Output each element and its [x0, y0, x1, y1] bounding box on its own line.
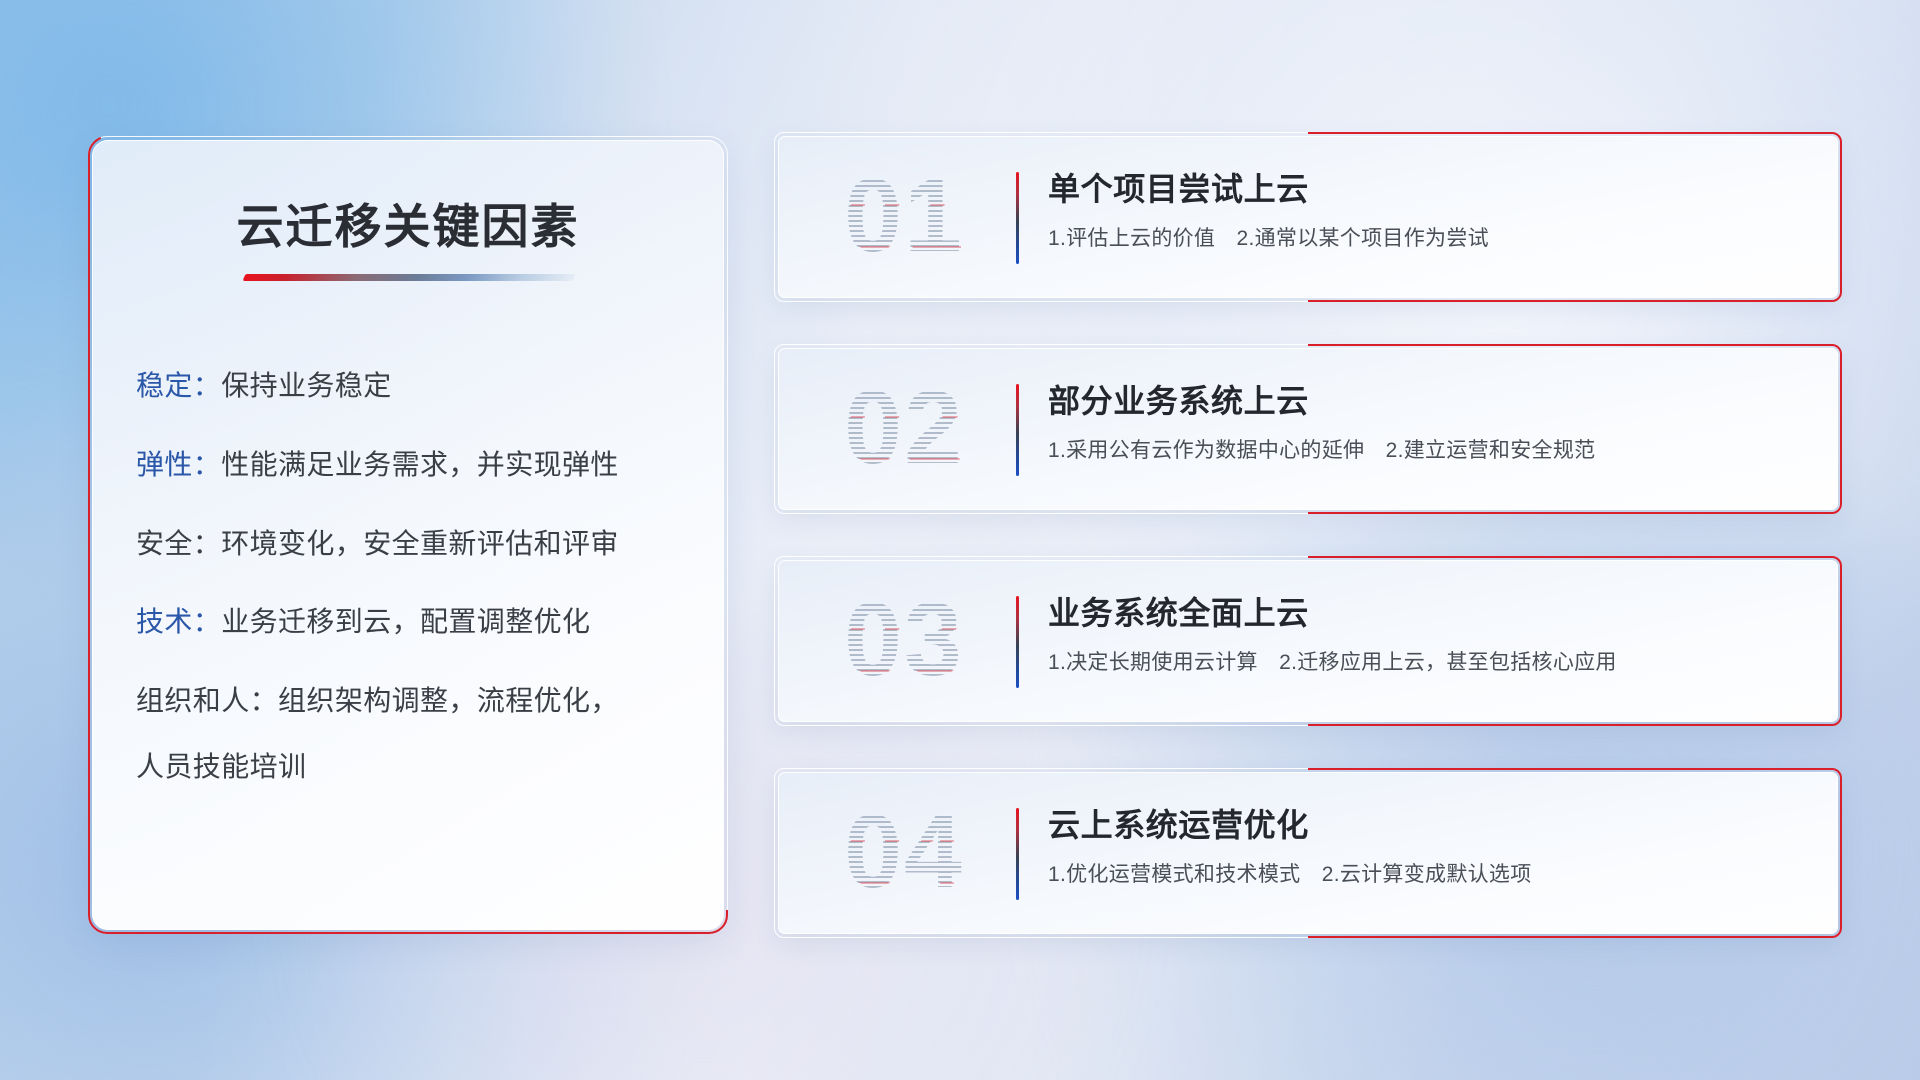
step-number-glitch-overlay: 04	[808, 786, 1004, 918]
step-content: 业务系统全面上云 1.决定长期使用云计算 2.迁移应用上云，甚至包括核心应用	[1048, 588, 1808, 676]
step-accent-bar	[1016, 172, 1019, 264]
list-item-factor-0: 稳定：保持业务稳定	[136, 368, 684, 404]
step-number-glitch-overlay: 01	[808, 150, 1004, 282]
step-number-ghost: 03	[806, 574, 1002, 706]
step-title: 部分业务系统上云	[1048, 376, 1808, 422]
factor-value: 业务迁移到云，配置调整优化	[221, 606, 590, 637]
step-accent-bar	[1016, 596, 1019, 688]
list-item-factor-2: 安全：环境变化，安全重新评估和评审	[136, 526, 684, 562]
list-item-factor-4: 组织和人：组织架构调整，流程优化，	[136, 683, 684, 719]
step-number-glitch-overlay: 03	[808, 574, 1004, 706]
factor-label: 安全：	[136, 528, 221, 559]
key-factors-list: 稳定：保持业务稳定 弹性：性能满足业务需求，并实现弹性 安全：环境变化，安全重新…	[92, 368, 724, 785]
factor-value: 组织架构调整，流程优化，	[278, 685, 619, 716]
step-card-03[interactable]: 03 03 业务系统全面上云 1.决定长期使用云计算 2.迁移应用上云，甚至包括…	[778, 560, 1838, 722]
step-description: 1.优化运营模式和技术模式 2.云计算变成默认选项	[1048, 858, 1808, 888]
step-accent-bar	[1016, 384, 1019, 476]
factor-label: 组织和人：	[136, 685, 278, 716]
step-description: 1.采用公有云作为数据中心的延伸 2.建立运营和安全规范	[1048, 434, 1808, 464]
step-number-ghost: 04	[806, 786, 1002, 918]
step-number-glitch-overlay: 02	[808, 362, 1004, 494]
step-description: 1.决定长期使用云计算 2.迁移应用上云，甚至包括核心应用	[1048, 646, 1808, 676]
step-description: 1.评估上云的价值 2.通常以某个项目作为尝试	[1048, 222, 1808, 252]
factor-label: 稳定：	[136, 370, 221, 401]
factor-label: 弹性：	[136, 449, 221, 480]
factor-label: 技术：	[136, 606, 221, 637]
title-underline-accent	[243, 274, 576, 281]
step-number-ghost: 01	[806, 150, 1002, 282]
list-item-factor-4-continuation: 人员技能培训	[136, 749, 684, 785]
step-number-ghost: 02	[806, 362, 1002, 494]
step-title: 业务系统全面上云	[1048, 588, 1808, 634]
factor-value: 环境变化，安全重新评估和评审	[221, 528, 619, 559]
page-title: 云迁移关键因素	[92, 188, 724, 257]
factor-value: 性能满足业务需求，并实现弹性	[221, 449, 619, 480]
step-content: 部分业务系统上云 1.采用公有云作为数据中心的延伸 2.建立运营和安全规范	[1048, 376, 1808, 464]
migration-steps-list: 01 01 单个项目尝试上云 1.评估上云的价值 2.通常以某个项目作为尝试 0…	[778, 136, 1838, 984]
step-accent-bar	[1016, 808, 1019, 900]
step-card-02[interactable]: 02 02 部分业务系统上云 1.采用公有云作为数据中心的延伸 2.建立运营和安…	[778, 348, 1838, 510]
key-factors-panel: 云迁移关键因素 稳定：保持业务稳定 弹性：性能满足业务需求，并实现弹性 安全：环…	[92, 140, 724, 930]
step-card-01[interactable]: 01 01 单个项目尝试上云 1.评估上云的价值 2.通常以某个项目作为尝试	[778, 136, 1838, 298]
list-item-factor-1: 弹性：性能满足业务需求，并实现弹性	[136, 447, 684, 483]
step-content: 云上系统运营优化 1.优化运营模式和技术模式 2.云计算变成默认选项	[1048, 800, 1808, 888]
slide-canvas: 云迁移关键因素 稳定：保持业务稳定 弹性：性能满足业务需求，并实现弹性 安全：环…	[0, 0, 1920, 1080]
step-title: 单个项目尝试上云	[1048, 164, 1808, 210]
factor-value: 保持业务稳定	[221, 370, 391, 401]
step-title: 云上系统运营优化	[1048, 800, 1808, 846]
step-content: 单个项目尝试上云 1.评估上云的价值 2.通常以某个项目作为尝试	[1048, 164, 1808, 252]
step-card-04[interactable]: 04 04 云上系统运营优化 1.优化运营模式和技术模式 2.云计算变成默认选项	[778, 772, 1838, 934]
list-item-factor-3: 技术：业务迁移到云，配置调整优化	[136, 604, 684, 640]
